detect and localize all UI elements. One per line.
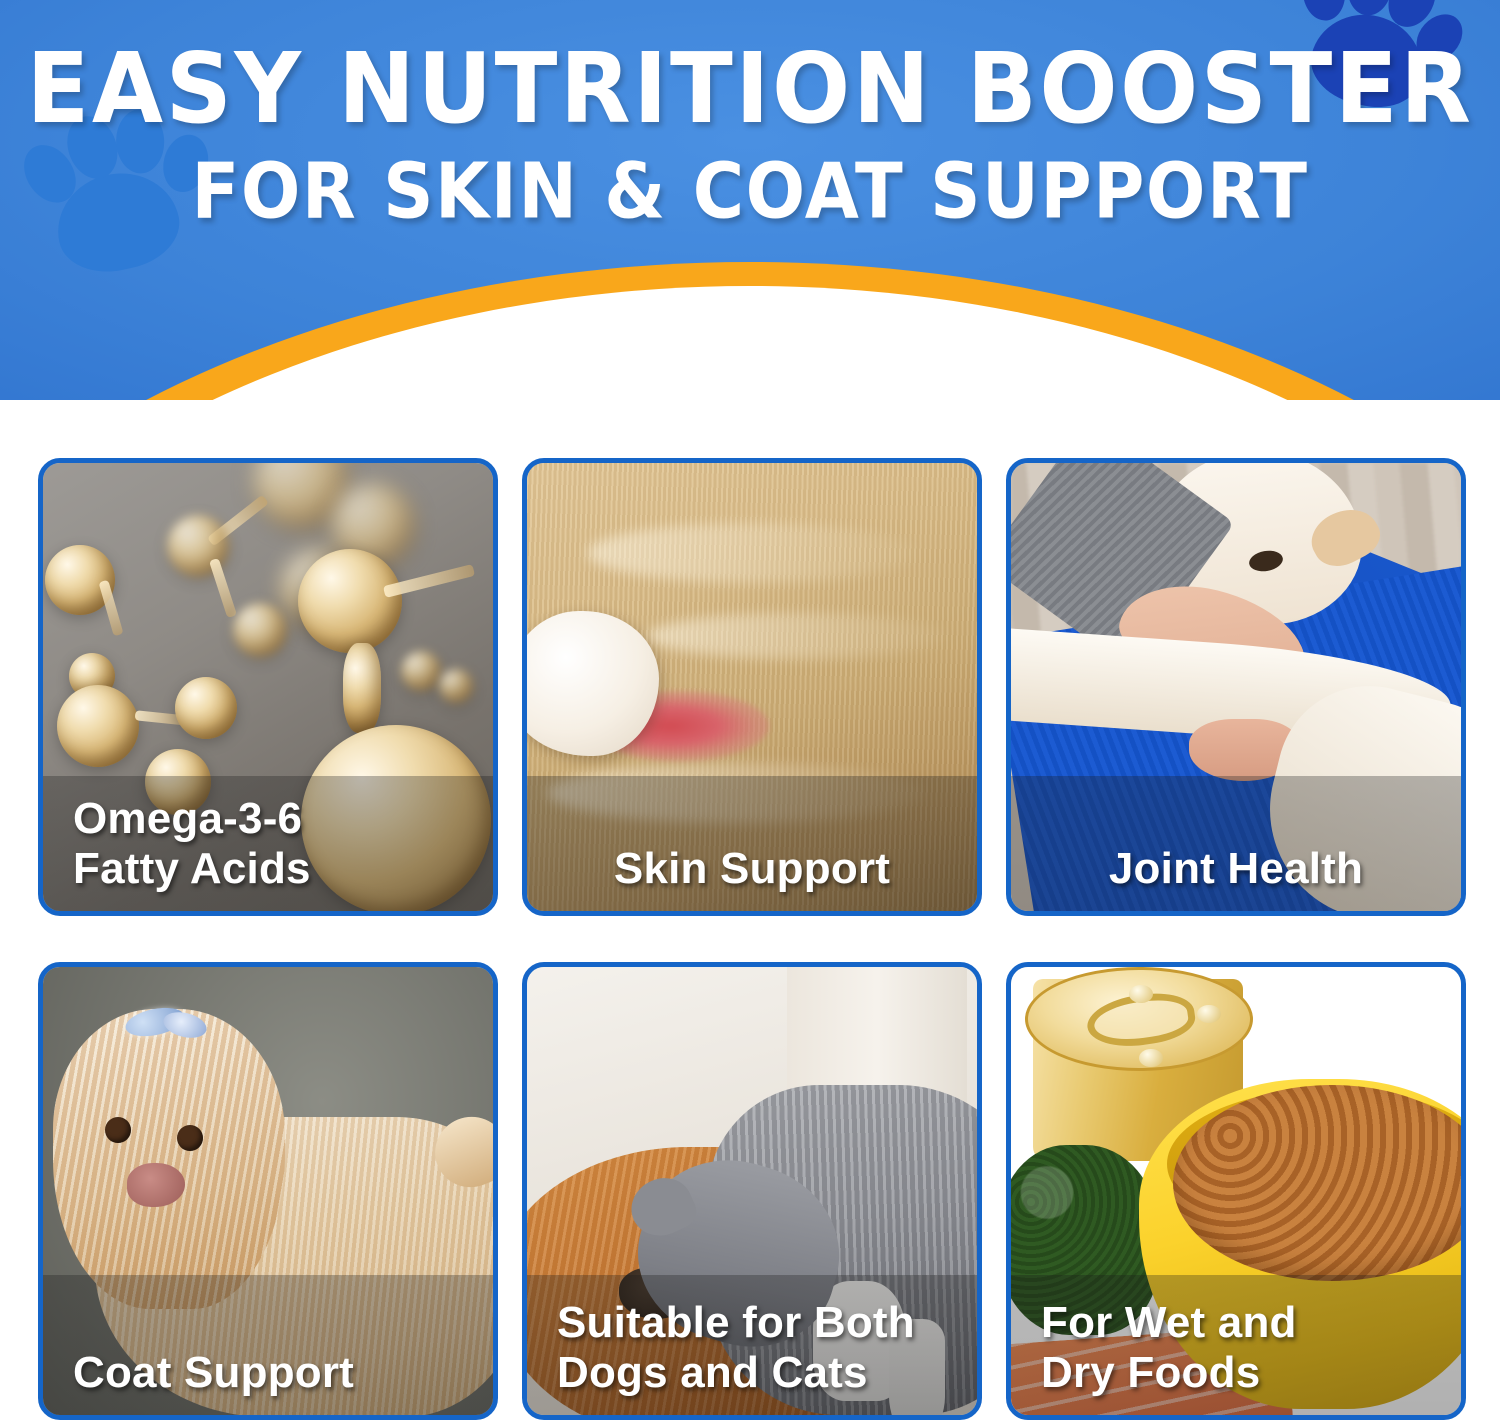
card-label-text: For Wet and Dry Foods [1011, 1298, 1461, 1397]
card-label-line1: Omega-3-6 [73, 794, 477, 843]
card-label-text: Skin Support [527, 844, 977, 893]
headline-primary: EASY NUTRITION BOOSTER [0, 41, 1500, 137]
benefit-card-joint-health[interactable]: Joint Health [1006, 458, 1466, 916]
card-label-line2: Dogs and Cats [557, 1348, 961, 1397]
benefit-card-coat-support[interactable]: Coat Support [38, 962, 498, 1420]
headline-secondary: FOR SKIN & COAT SUPPORT [0, 153, 1500, 230]
card-label-line1: Joint Health [1027, 844, 1445, 893]
card-label-text: Suitable for Both Dogs and Cats [527, 1298, 977, 1397]
card-label-line1: Coat Support [73, 1348, 477, 1397]
benefit-card-skin-support[interactable]: Skin Support [522, 458, 982, 916]
header-title-block: EASY NUTRITION BOOSTER FOR SKIN & COAT S… [0, 0, 1500, 226]
card-label-overlay: Skin Support [527, 776, 977, 911]
card-label-line1: For Wet and [1041, 1298, 1445, 1347]
benefit-card-for-wet-and-dry-foods[interactable]: For Wet and Dry Foods [1006, 962, 1466, 1420]
card-label-line1: Suitable for Both [557, 1298, 961, 1347]
benefit-card-suitable-for-both-dogs-and-cats[interactable]: Suitable for Both Dogs and Cats [522, 962, 982, 1420]
card-label-overlay: Omega-3-6 Fatty Acids [43, 776, 493, 911]
card-label-overlay: Suitable for Both Dogs and Cats [527, 1275, 977, 1415]
card-label-text: Coat Support [43, 1348, 493, 1397]
card-label-line1: Skin Support [543, 844, 961, 893]
card-label-line2: Fatty Acids [73, 844, 477, 893]
benefit-card-omega-3-6-fatty-acids[interactable]: Omega-3-6 Fatty Acids [38, 458, 498, 916]
card-label-overlay: For Wet and Dry Foods [1011, 1275, 1461, 1415]
card-label-overlay: Coat Support [43, 1275, 493, 1415]
card-label-text: Joint Health [1011, 844, 1461, 893]
card-label-overlay: Joint Health [1011, 776, 1461, 911]
card-label-text: Omega-3-6 Fatty Acids [43, 794, 493, 893]
benefit-card-grid: Omega-3-6 Fatty Acids Skin Support [38, 458, 1466, 1420]
card-label-line2: Dry Foods [1041, 1348, 1445, 1397]
header-banner: EASY NUTRITION BOOSTER FOR SKIN & COAT S… [0, 0, 1500, 400]
